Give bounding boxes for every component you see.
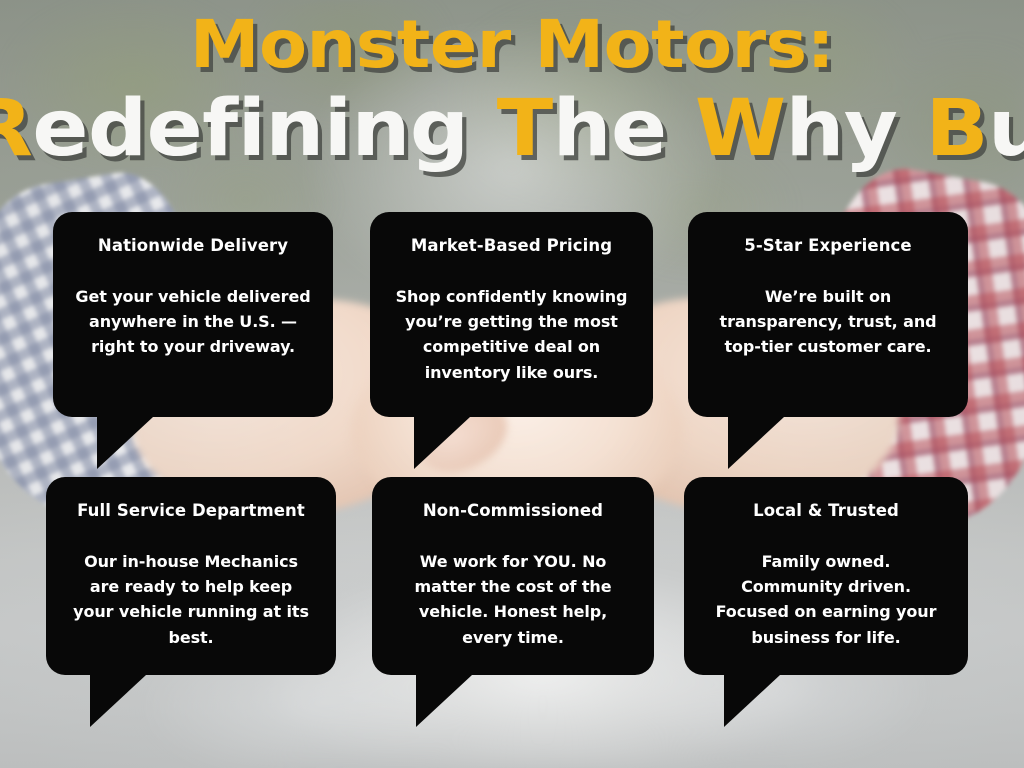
speech-bubble-tail (414, 417, 470, 469)
card-title: 5-Star Experience (706, 236, 950, 256)
card-title: Full Service Department (64, 501, 318, 521)
benefit-card-nationwide-delivery[interactable]: Nationwide Delivery Get your vehicle del… (53, 212, 333, 417)
card-body: We’re built on transparency, trust, and … (706, 284, 950, 360)
speech-bubble-tail (724, 675, 780, 727)
benefit-card-five-star-experience[interactable]: 5-Star Experience We’re built on transpa… (688, 212, 968, 417)
card-title: Non-Commissioned (390, 501, 636, 521)
card-body: Get your vehicle delivered anywhere in t… (71, 284, 315, 360)
speech-bubble-tail (416, 675, 472, 727)
card-title: Local & Trusted (702, 501, 950, 521)
card-body: Family owned. Community driven. Focused … (702, 549, 950, 650)
speech-bubble-tail (97, 417, 153, 469)
benefit-card-grid: Nationwide Delivery Get your vehicle del… (0, 0, 1024, 768)
speech-bubble-tail (728, 417, 784, 469)
benefit-card-market-based-pricing[interactable]: Market-Based Pricing Shop confidently kn… (370, 212, 653, 417)
infographic-canvas: Monster Motors: Redefining The Why Buy N… (0, 0, 1024, 768)
benefit-card-non-commissioned[interactable]: Non-Commissioned We work for YOU. No mat… (372, 477, 654, 675)
card-body: Our in-house Mechanics are ready to help… (64, 549, 318, 650)
card-title: Market-Based Pricing (388, 236, 635, 256)
speech-bubble-tail (90, 675, 146, 727)
card-body: We work for YOU. No matter the cost of t… (390, 549, 636, 650)
card-title: Nationwide Delivery (71, 236, 315, 256)
benefit-card-full-service-department[interactable]: Full Service Department Our in-house Mec… (46, 477, 336, 675)
benefit-card-local-trusted[interactable]: Local & Trusted Family owned. Community … (684, 477, 968, 675)
card-body: Shop confidently knowing you’re getting … (388, 284, 635, 385)
